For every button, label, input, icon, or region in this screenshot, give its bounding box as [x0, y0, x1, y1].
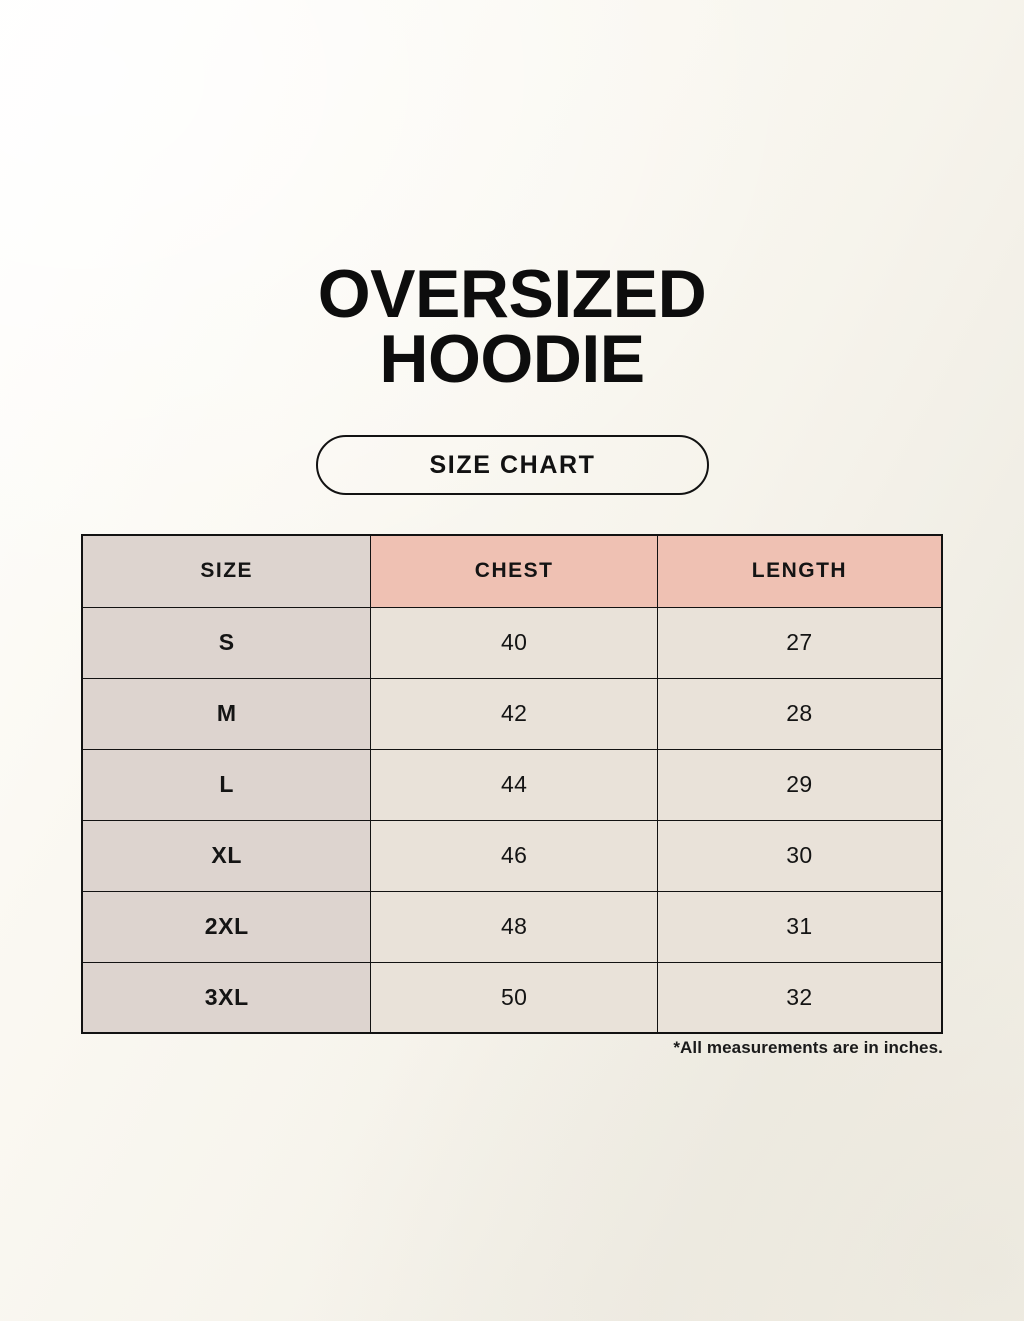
cell-size: L	[82, 749, 371, 820]
cell-size: M	[82, 678, 371, 749]
cell-chest: 50	[371, 962, 657, 1033]
size-table: SIZE CHEST LENGTH S 40 27 M 42 28 L	[81, 534, 943, 1034]
cell-length: 28	[657, 678, 942, 749]
cell-chest: 42	[371, 678, 657, 749]
cell-chest: 44	[371, 749, 657, 820]
size-chart-badge-label: SIZE CHART	[430, 451, 596, 480]
table-row: S 40 27	[82, 607, 942, 678]
size-chart-badge: SIZE CHART	[316, 435, 709, 495]
cell-size: 3XL	[82, 962, 371, 1033]
cell-size: S	[82, 607, 371, 678]
column-header-size: SIZE	[82, 535, 371, 607]
page-title-line-1: OVERSIZED	[0, 262, 1024, 327]
cell-length: 30	[657, 820, 942, 891]
page-title-line-2: HOODIE	[0, 327, 1024, 392]
size-table-container: SIZE CHEST LENGTH S 40 27 M 42 28 L	[81, 534, 943, 1034]
cell-size: 2XL	[82, 891, 371, 962]
cell-chest: 48	[371, 891, 657, 962]
size-chart-poster: OVERSIZED HOODIE SIZE CHART SIZE CHEST L…	[0, 0, 1024, 1321]
cell-chest: 46	[371, 820, 657, 891]
table-row: XL 46 30	[82, 820, 942, 891]
measurement-footnote: *All measurements are in inches.	[81, 1038, 943, 1058]
page-title: OVERSIZED HOODIE	[0, 262, 1024, 393]
table-row: 3XL 50 32	[82, 962, 942, 1033]
column-header-chest: CHEST	[371, 535, 657, 607]
table-row: L 44 29	[82, 749, 942, 820]
cell-length: 27	[657, 607, 942, 678]
cell-size: XL	[82, 820, 371, 891]
cell-length: 29	[657, 749, 942, 820]
table-header-row: SIZE CHEST LENGTH	[82, 535, 942, 607]
cell-length: 32	[657, 962, 942, 1033]
column-header-length: LENGTH	[657, 535, 942, 607]
cell-chest: 40	[371, 607, 657, 678]
size-table-body: S 40 27 M 42 28 L 44 29 XL 46 30	[82, 607, 942, 1033]
cell-length: 31	[657, 891, 942, 962]
table-row: M 42 28	[82, 678, 942, 749]
size-table-head: SIZE CHEST LENGTH	[82, 535, 942, 607]
table-row: 2XL 48 31	[82, 891, 942, 962]
